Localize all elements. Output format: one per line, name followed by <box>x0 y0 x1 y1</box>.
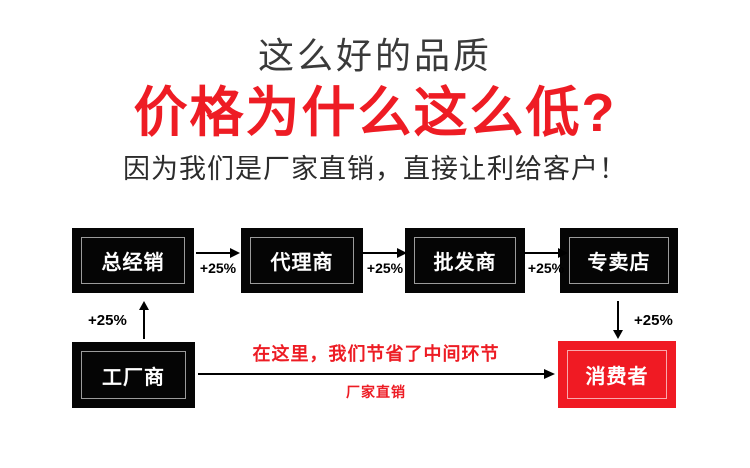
markup-label: +25% <box>634 312 673 329</box>
chain-node-label: 批发商 <box>434 246 497 275</box>
chain-node-distributor: 总经销 <box>72 228 194 293</box>
chain-connector-3: +25% <box>522 248 570 276</box>
markup-label: +25% <box>522 260 570 276</box>
arrow-head <box>558 248 568 258</box>
arrow-shaft <box>196 252 232 254</box>
store-to-consumer-connector: +25% <box>612 299 722 341</box>
chain-connector-1: +25% <box>194 248 242 276</box>
arrow-down-icon <box>612 300 624 340</box>
arrow-up-icon <box>138 301 150 339</box>
factory-node-label: 工厂商 <box>102 361 165 390</box>
supply-chain-diagram: 总经销 代理商 批发商 专卖店 +25% +25% <box>0 0 750 468</box>
arrow-shaft <box>363 252 399 254</box>
factory-to-distributor-connector: +25% <box>88 300 198 340</box>
markup-label: +25% <box>194 260 242 276</box>
chain-node-retail-store: 专卖店 <box>560 228 678 293</box>
arrow-shaft <box>143 309 145 339</box>
arrow-head <box>139 301 149 310</box>
direct-sale-caption-top: 在这里，我们节省了中间环节 <box>198 340 554 366</box>
arrow-shaft <box>524 252 560 254</box>
arrow-shaft <box>617 301 619 331</box>
arrow-right-icon <box>363 248 407 258</box>
chain-node-label: 代理商 <box>271 246 334 275</box>
arrow-head <box>230 248 240 258</box>
direct-sale-arrow-icon <box>198 368 558 380</box>
arrow-shaft <box>198 373 546 375</box>
chain-node-label: 总经销 <box>102 246 165 275</box>
chain-connector-2: +25% <box>361 248 409 276</box>
factory-node: 工厂商 <box>72 342 195 408</box>
arrow-right-icon <box>524 248 568 258</box>
arrow-head <box>397 248 407 258</box>
consumer-node: 消费者 <box>558 341 676 408</box>
promo-banner: 这么好的品质 价格为什么这么低? 因为我们是厂家直销，直接让利给客户！ 总经销 … <box>0 0 750 468</box>
markup-label: +25% <box>361 260 409 276</box>
arrow-head <box>613 330 623 339</box>
arrow-head <box>544 369 555 379</box>
chain-node-label: 专卖店 <box>588 246 651 275</box>
markup-label: +25% <box>88 312 127 329</box>
chain-node-agent: 代理商 <box>241 228 363 293</box>
consumer-node-label: 消费者 <box>586 360 649 389</box>
arrow-right-icon <box>196 248 240 258</box>
chain-node-wholesaler: 批发商 <box>405 228 525 293</box>
direct-sale-caption-bottom: 厂家直销 <box>198 382 554 402</box>
